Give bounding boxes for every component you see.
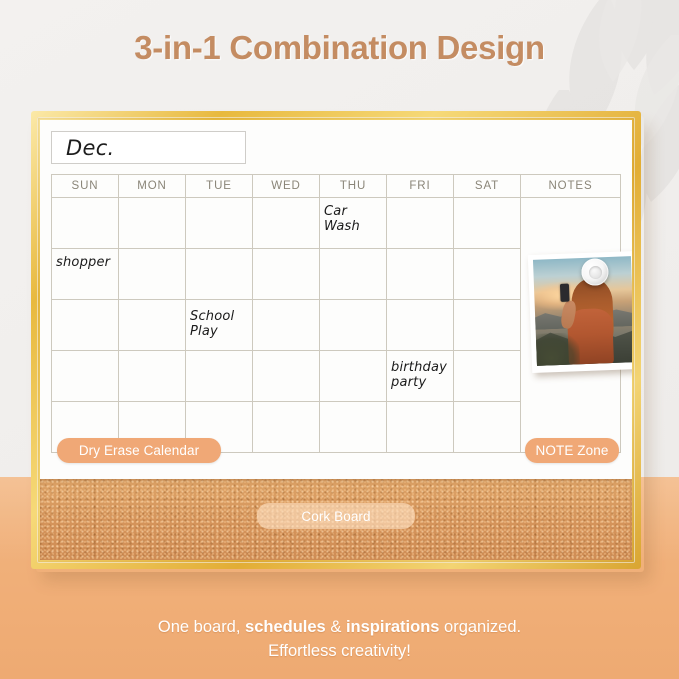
cell-tue-1[interactable] — [186, 198, 253, 249]
entry-birthday-party-line2: party — [387, 375, 453, 390]
cell-sat-5[interactable] — [454, 402, 521, 453]
cell-wed-5[interactable] — [253, 402, 320, 453]
day-header-sun: SUN — [52, 175, 119, 198]
month-input-box[interactable]: Dec. — [51, 131, 246, 164]
calendar-row-1: Car Wash — [52, 198, 621, 249]
combination-board: Dec. SUN MON TUE WED THU — [31, 111, 641, 569]
caption-bold-schedules: schedules — [245, 618, 326, 636]
cell-mon-3[interactable] — [119, 300, 186, 351]
cell-sun-4[interactable] — [52, 351, 119, 402]
cell-sat-2[interactable] — [454, 249, 521, 300]
day-header-tue: TUE — [186, 175, 253, 198]
cell-fri-5[interactable] — [387, 402, 454, 453]
cell-wed-2[interactable] — [253, 249, 320, 300]
notes-header: NOTES — [521, 175, 621, 198]
badge-cork-board: Cork Board — [257, 503, 415, 529]
board-face: Dec. SUN MON TUE WED THU — [40, 120, 632, 560]
phone-icon — [560, 284, 569, 302]
entry-school-play-line2: Play — [186, 324, 252, 339]
magnet-inner-ring — [588, 265, 601, 278]
cell-wed-3[interactable] — [253, 300, 320, 351]
caption-bold-inspirations: inspirations — [346, 618, 440, 636]
day-header-thu: THU — [320, 175, 387, 198]
cell-tue-2[interactable] — [186, 249, 253, 300]
cell-mon-4[interactable] — [119, 351, 186, 402]
cell-thu-5[interactable] — [320, 402, 387, 453]
cell-sun-1[interactable] — [52, 198, 119, 249]
month-label: Dec. — [66, 136, 115, 160]
day-header-fri: FRI — [387, 175, 454, 198]
cell-tue-3[interactable]: School Play — [186, 300, 253, 351]
cell-sat-3[interactable] — [454, 300, 521, 351]
foliage — [533, 332, 580, 365]
cell-fri-2[interactable] — [387, 249, 454, 300]
entry-shopper: shopper — [52, 249, 118, 270]
entry-school-play-line1: School — [186, 300, 252, 324]
photo-frame — [528, 251, 632, 373]
cell-thu-1[interactable]: Car Wash — [320, 198, 387, 249]
badge-dry-erase-calendar: Dry Erase Calendar — [57, 438, 221, 463]
cell-thu-4[interactable] — [320, 351, 387, 402]
calendar-header-row: SUN MON TUE WED THU FRI SAT NOTES — [52, 175, 621, 198]
caption: One board, schedules & inspirations orga… — [0, 615, 679, 663]
day-header-mon: MON — [119, 175, 186, 198]
badge-note-zone: NOTE Zone — [525, 438, 619, 463]
day-header-sat: SAT — [454, 175, 521, 198]
cell-mon-2[interactable] — [119, 249, 186, 300]
caption-line1-part3: organized. — [439, 618, 521, 636]
caption-line1-part1: One board, — [158, 618, 245, 636]
cell-tue-4[interactable] — [186, 351, 253, 402]
cell-fri-1[interactable] — [387, 198, 454, 249]
cell-fri-3[interactable] — [387, 300, 454, 351]
caption-line1-part2: & — [326, 618, 346, 636]
cell-wed-4[interactable] — [253, 351, 320, 402]
cell-sat-4[interactable] — [454, 351, 521, 402]
cell-sun-3[interactable] — [52, 300, 119, 351]
page-title: 3-in-1 Combination Design — [0, 29, 679, 67]
pinned-photo[interactable] — [528, 251, 632, 373]
product-infographic: 3-in-1 Combination Design Dec. SUN — [0, 0, 679, 679]
day-header-wed: WED — [253, 175, 320, 198]
caption-line2: Effortless creativity! — [268, 642, 411, 660]
cell-sat-1[interactable] — [454, 198, 521, 249]
cell-thu-3[interactable] — [320, 300, 387, 351]
cell-fri-4[interactable]: birthday party — [387, 351, 454, 402]
cell-thu-2[interactable] — [320, 249, 387, 300]
cell-wed-1[interactable] — [253, 198, 320, 249]
entry-car-wash: Car Wash — [320, 198, 386, 234]
entry-birthday-party-line1: birthday — [387, 351, 453, 375]
cell-mon-1[interactable] — [119, 198, 186, 249]
cell-sun-2[interactable]: shopper — [52, 249, 119, 300]
